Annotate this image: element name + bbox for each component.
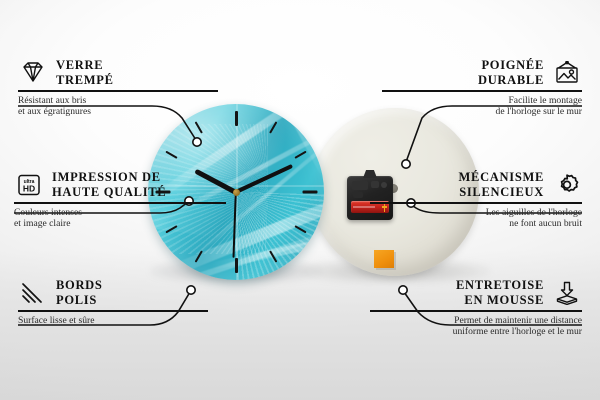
- movement-detail: [352, 181, 368, 190]
- ultra-hd-badge-icon: ultra HD: [14, 171, 44, 199]
- foam-spacer: [374, 250, 394, 268]
- callout-entretoise-mousse: ENTRETOISE EN MOUSSE Permet de maintenir…: [370, 278, 582, 338]
- callout-description: Résistant aux bris et aux égratignures: [18, 95, 218, 118]
- gear-icon: [552, 171, 582, 199]
- picture-frame-hanger-icon: [552, 59, 582, 87]
- callout-title: VERRE TREMPÉ: [56, 58, 114, 87]
- callout-header: ENTRETOISE EN MOUSSE: [370, 278, 582, 307]
- callout-rule: [370, 310, 582, 312]
- callout-rule: [382, 90, 582, 92]
- callout-header: VERRE TREMPÉ: [18, 58, 218, 87]
- callout-title: MÉCANISME SILENCIEUX: [459, 170, 544, 199]
- hands-hub: [233, 189, 240, 196]
- callout-poignee-durable: POIGNÉE DURABLE Facilite le montage de l…: [382, 58, 582, 118]
- callout-impression: ultra HD IMPRESSION DE HAUTE QUALITÉ Cou…: [14, 170, 226, 230]
- hour-marker: [302, 191, 317, 194]
- hour-marker: [235, 111, 238, 126]
- hour-marker: [235, 258, 238, 273]
- movement-detail: [353, 192, 363, 198]
- callout-description: Permet de maintenir une distance uniform…: [370, 315, 582, 338]
- hour-marker: [294, 151, 306, 159]
- callout-rule: [18, 90, 218, 92]
- callout-rule: [370, 202, 582, 204]
- callout-rule: [14, 202, 226, 204]
- callout-rule: [18, 310, 208, 312]
- callout-title: BORDS POLIS: [56, 278, 103, 307]
- callout-bords-polis: BORDS POLIS Surface lisse et sûre: [18, 278, 208, 326]
- callout-description: Couleurs intenses et image claire: [14, 207, 226, 230]
- callout-description: Surface lisse et sûre: [18, 315, 208, 327]
- arrow-down-stack-icon: [552, 279, 582, 307]
- diagonal-lines-icon: [18, 279, 48, 307]
- callout-header: MÉCANISME SILENCIEUX: [370, 170, 582, 199]
- callout-mecanisme-silencieux: MÉCANISME SILENCIEUX Les aiguilles de l'…: [370, 170, 582, 230]
- callout-description: Les aiguilles de l'horloge ne font aucun…: [370, 207, 582, 230]
- callout-header: ultra HD IMPRESSION DE HAUTE QUALITÉ: [14, 170, 226, 199]
- diamond-icon: [18, 59, 48, 87]
- callout-title: IMPRESSION DE HAUTE QUALITÉ: [52, 170, 166, 199]
- callout-title: ENTRETOISE EN MOUSSE: [456, 278, 544, 307]
- callout-verre-trempe: VERRE TREMPÉ Résistant aux bris et aux é…: [18, 58, 218, 118]
- callout-description: Facilite le montage de l'horloge sur le …: [382, 95, 582, 118]
- callout-title: POIGNÉE DURABLE: [478, 58, 544, 87]
- infographic-stage: VERRE TREMPÉ Résistant aux bris et aux é…: [0, 0, 600, 400]
- svg-text:HD: HD: [23, 183, 35, 193]
- callout-header: BORDS POLIS: [18, 278, 208, 307]
- callout-header: POIGNÉE DURABLE: [382, 58, 582, 87]
